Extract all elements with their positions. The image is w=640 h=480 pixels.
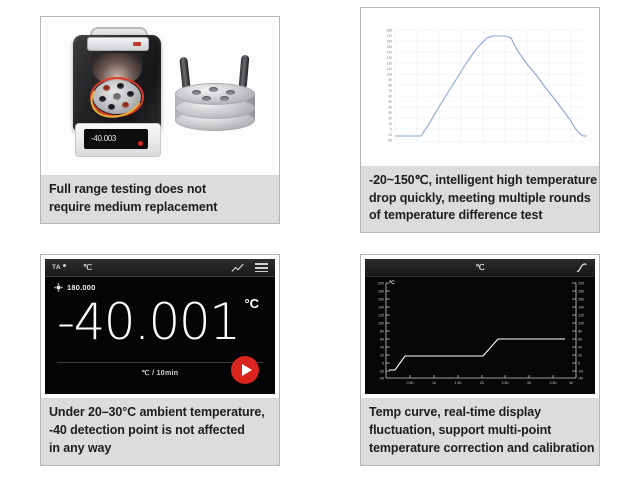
svg-text:200: 200 (378, 282, 384, 286)
svg-text:180: 180 (378, 290, 384, 294)
svg-text:100: 100 (578, 322, 584, 326)
feature-grid: -40.003 (0, 0, 640, 480)
svg-text:80: 80 (388, 83, 392, 87)
svg-text:0: 0 (578, 362, 580, 366)
caption-top-right: -20~150℃, intelligent high temperature d… (361, 166, 599, 232)
hamburger-menu-icon[interactable] (255, 263, 268, 272)
cell-top-right: 180 170 160 150 140 130 120 110 100 90 8… (320, 0, 640, 240)
unit-label[interactable]: ℃ (83, 263, 92, 272)
reading-value: -40.001 (57, 297, 240, 347)
caption-line: Temp curve, real-time display (369, 404, 591, 422)
svg-text:160: 160 (578, 298, 584, 302)
svg-text:50: 50 (388, 100, 392, 104)
caption-bottom-left: Under 20–30°C ambient temperature, -40 d… (41, 398, 279, 464)
temp-curve-topbar: ℃ (365, 259, 595, 277)
device-lid-strip (87, 37, 149, 51)
cell-top-left: -40.003 (0, 0, 320, 240)
caption-line: fluctuation, support multi-point (369, 422, 591, 440)
svg-text:4h: 4h (569, 381, 573, 385)
svg-text:80: 80 (578, 330, 582, 334)
svg-text:30: 30 (388, 111, 392, 115)
svg-text:-20: -20 (578, 370, 583, 374)
svg-text:-40: -40 (578, 377, 583, 381)
caption-line: temperature correction and calibration (369, 440, 591, 458)
panel-media-device-ui: TA ℃ 180. (41, 255, 279, 398)
panel-temp-curve[interactable]: ℃ ℃ (360, 254, 600, 465)
reading-unit: °C (244, 296, 259, 311)
mode-indicator-dot-icon (63, 264, 66, 267)
caption-line: of temperature difference test (369, 207, 591, 225)
chart-plot-svg: 180 170 160 150 140 130 120 110 100 90 8… (365, 12, 595, 162)
highlight-ring-icon (90, 77, 144, 117)
caption-line: drop quickly, meeting multiple rounds (369, 190, 591, 208)
svg-text:170: 170 (387, 34, 393, 38)
svg-text:200: 200 (578, 282, 584, 286)
panel-media-temp-curve: ℃ ℃ (361, 255, 599, 398)
caption-line: require medium replacement (49, 199, 271, 217)
svg-text:110: 110 (387, 67, 392, 71)
device-mini-screen: -40.003 (84, 129, 148, 149)
panel-media-profile-chart: 180 170 160 150 140 130 120 110 100 90 8… (361, 8, 599, 166)
svg-text:100: 100 (387, 72, 393, 76)
topbar-actions (231, 263, 268, 273)
svg-text:70: 70 (388, 89, 392, 93)
rotor-post-right (239, 54, 250, 89)
svg-text:120: 120 (387, 61, 393, 65)
svg-text:1h: 1h (432, 381, 436, 385)
svg-text:20: 20 (380, 354, 384, 358)
caption-line: -40 detection point is not affected (49, 422, 271, 440)
caption-line: Under 20–30°C ambient temperature, (49, 404, 271, 422)
temp-curve-plot: ℃ (365, 277, 595, 394)
svg-text:-10: -10 (387, 133, 392, 137)
cell-bottom-left: TA ℃ 180. (0, 240, 320, 480)
svg-text:-40: -40 (379, 377, 384, 381)
svg-text:3h: 3h (527, 381, 531, 385)
svg-text:120: 120 (378, 314, 384, 318)
product-photo: -40.003 (45, 21, 275, 171)
caption-top-left: Full range testing does not require medi… (41, 175, 279, 224)
svg-text:180: 180 (387, 28, 393, 32)
svg-text:-20: -20 (379, 370, 384, 374)
temperature-profile-chart: 180 170 160 150 140 130 120 110 100 90 8… (365, 12, 595, 162)
caption-bottom-right: Temp curve, real-time display fluctuatio… (361, 398, 599, 464)
play-button[interactable] (231, 356, 259, 384)
svg-text:40: 40 (380, 346, 384, 350)
svg-text:140: 140 (387, 50, 393, 54)
device-record-dot-icon (138, 141, 143, 146)
instrument-device: -40.003 (73, 27, 161, 155)
svg-text:120: 120 (578, 314, 584, 318)
svg-text:-20: -20 (387, 138, 392, 142)
reading-row: -40.001 °C (45, 291, 275, 353)
svg-text:10: 10 (388, 122, 392, 126)
svg-text:60: 60 (578, 338, 582, 342)
svg-text:3.5h: 3.5h (550, 381, 557, 385)
svg-text:1.5h: 1.5h (455, 381, 462, 385)
svg-text:0.5h: 0.5h (407, 381, 414, 385)
caption-line: -20~150℃, intelligent high temperature (369, 172, 591, 190)
temp-curve-title: ℃ (476, 263, 485, 272)
temp-curve-series (389, 339, 565, 370)
svg-text:140: 140 (578, 306, 584, 310)
rotor-accessory (173, 55, 257, 131)
svg-text:150: 150 (387, 45, 393, 49)
panel-device-reading[interactable]: TA ℃ 180. (40, 254, 280, 465)
svg-text:90: 90 (388, 78, 392, 82)
play-icon (242, 364, 252, 376)
svg-text:60: 60 (380, 338, 384, 342)
svg-text:180: 180 (578, 290, 584, 294)
svg-text:160: 160 (387, 39, 393, 43)
svg-text:2h: 2h (480, 381, 484, 385)
cell-bottom-right: ℃ ℃ (320, 240, 640, 480)
svg-text:160: 160 (378, 298, 384, 302)
panel-media-product-photo: -40.003 (41, 17, 279, 175)
svg-text:2.5h: 2.5h (502, 381, 509, 385)
temp-curve-svg: 200 180 160 140 120 100 80 60 40 20 0 (365, 277, 595, 394)
caption-line: in any way (49, 440, 271, 458)
trend-chart-icon[interactable] (231, 263, 244, 273)
svg-text:130: 130 (387, 56, 393, 60)
svg-text:0: 0 (382, 362, 384, 366)
caption-line: Full range testing does not (49, 181, 271, 199)
svg-text:80: 80 (380, 330, 384, 334)
curve-line-icon[interactable] (576, 262, 588, 273)
device-reading-screen[interactable]: TA ℃ 180. (45, 259, 275, 394)
svg-text:40: 40 (578, 346, 582, 350)
svg-text:0: 0 (390, 127, 392, 131)
panel-full-range-testing[interactable]: -40.003 (40, 16, 280, 225)
svg-text:20: 20 (388, 116, 392, 120)
chart-line-series (395, 36, 587, 136)
svg-text:60: 60 (388, 94, 392, 98)
device-mini-screen-value: -40.003 (91, 134, 116, 143)
temp-curve-screen[interactable]: ℃ ℃ (365, 259, 595, 394)
panel-temperature-profile[interactable]: 180 170 160 150 140 130 120 110 100 90 8… (360, 7, 600, 233)
svg-text:100: 100 (378, 322, 384, 326)
svg-text:20: 20 (578, 354, 582, 358)
mode-label[interactable]: TA (52, 264, 66, 271)
device-topbar: TA ℃ (45, 259, 275, 277)
svg-text:40: 40 (388, 105, 392, 109)
svg-text:140: 140 (378, 306, 384, 310)
rotor-disc-top (175, 83, 255, 105)
